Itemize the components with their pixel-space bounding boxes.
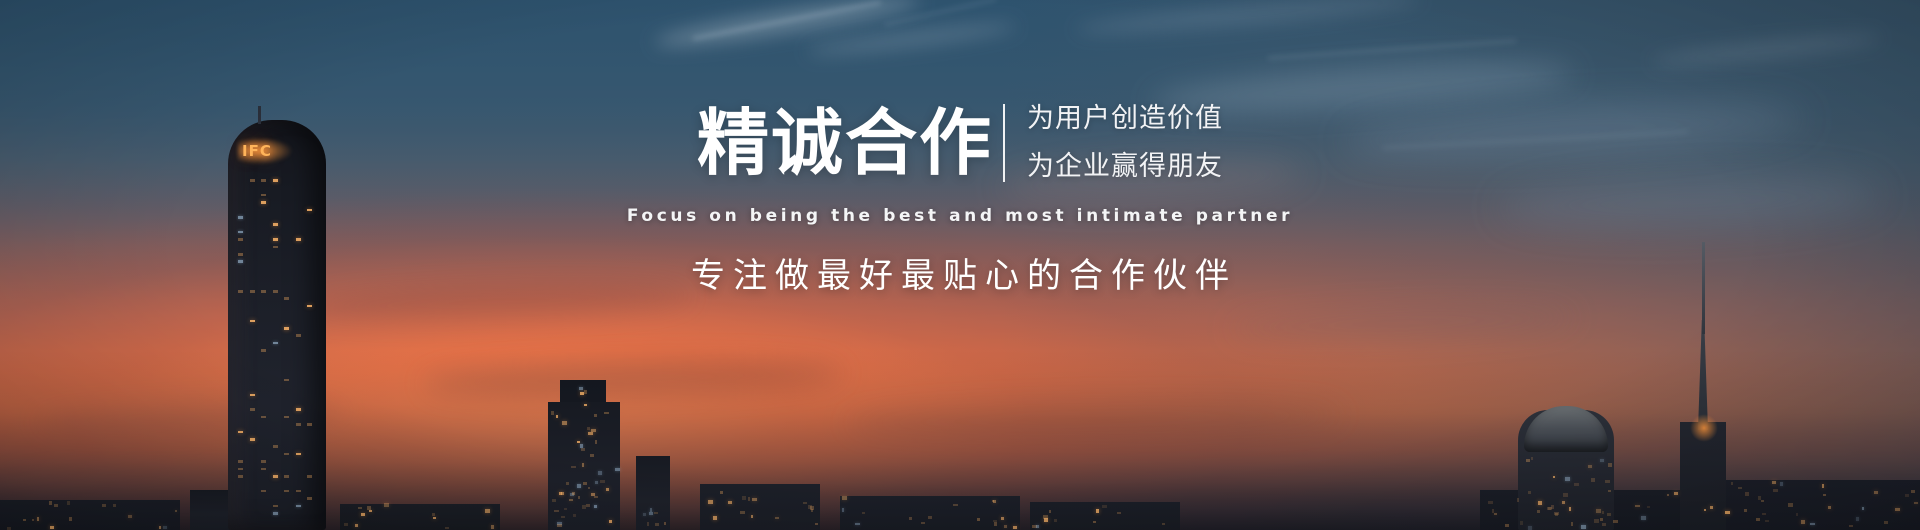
hero-banner: IFC 精诚合作 为用户创造价值 为企业赢得朋友 Focus on b — [0, 0, 1920, 530]
subtitle-english: Focus on being the best and most intimat… — [627, 206, 1293, 226]
headline-divider — [1003, 104, 1005, 182]
headline-side-line-1: 为用户创造价值 — [1027, 104, 1223, 134]
headline-side-line-2: 为企业赢得朋友 — [1027, 152, 1223, 182]
banner-content: 精诚合作 为用户创造价值 为企业赢得朋友 Focus on being the … — [0, 0, 1920, 530]
headline-row: 精诚合作 为用户创造价值 为企业赢得朋友 — [697, 104, 1223, 182]
headline-side-block: 为用户创造价值 为企业赢得朋友 — [1027, 104, 1223, 182]
headline-main-title: 精诚合作 — [697, 104, 993, 182]
tagline-chinese: 专注做最好最贴心的合作伙伴 — [683, 248, 1237, 297]
